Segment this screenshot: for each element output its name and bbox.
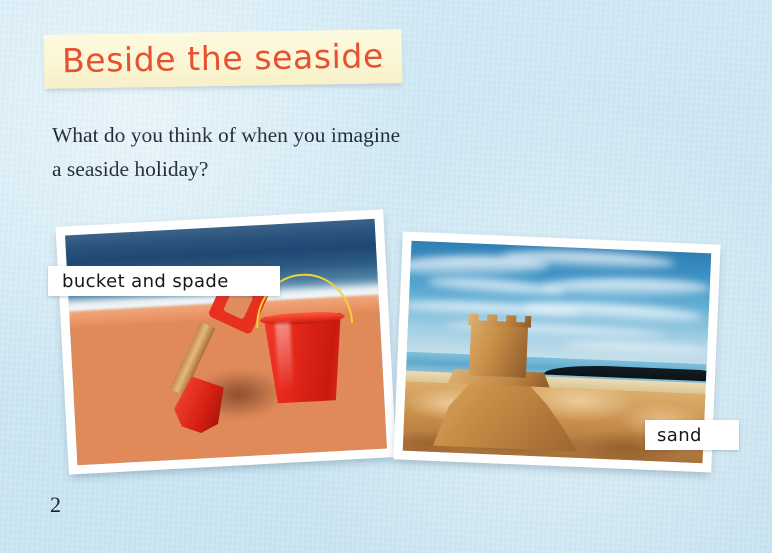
intro-paragraph: What do you think of when you imagine a …: [52, 118, 522, 186]
photo-bucket-and-spade-image: [65, 219, 387, 465]
intro-line-1: What do you think of when you imagine: [52, 118, 522, 152]
worksheet-page: Beside the seaside What do you think of …: [0, 0, 772, 553]
photo-bucket-and-spade: [56, 209, 397, 474]
intro-line-2: a seaside holiday?: [52, 152, 522, 186]
page-number: 2: [50, 492, 61, 518]
page-title: Beside the seaside: [62, 36, 384, 80]
label-bucket-and-spade: bucket and spade: [48, 266, 280, 296]
label-sand: sand: [645, 420, 739, 450]
beach-scene-shingle: [65, 219, 387, 465]
title-banner: Beside the seaside: [44, 29, 403, 89]
sandcastle-tower: [469, 321, 528, 378]
